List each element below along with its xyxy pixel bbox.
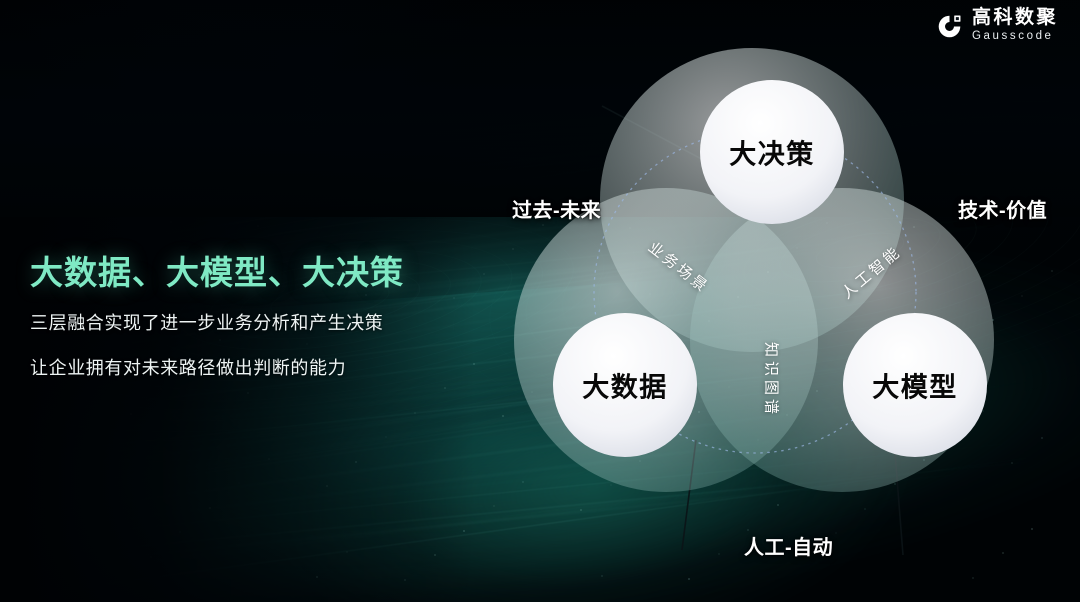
brand-logo-text: 高科数聚 Gausscode [972,8,1058,44]
subtitle-line-2: 让企业拥有对未来路径做出判断的能力 [30,355,470,382]
brand-logo: 高科数聚 Gausscode [936,8,1058,44]
page-title: 大数据、大模型、大决策 [30,252,470,293]
brand-name-cn: 高科数聚 [972,8,1058,28]
outer-label-manual-automatic: 人工-自动 [744,531,833,560]
venn-node-label-bigdata: 大数据 [582,366,668,405]
outer-label-past-future: 过去-未来 [512,194,601,223]
venn-diagram-svg [490,10,1050,570]
slide-text-block: 大数据、大模型、大决策 三层融合实现了进一步业务分析和产生决策 让企业拥有对未来… [30,252,470,382]
venn-node-label-decision: 大决策 [729,133,815,172]
venn-diagram: 大决策 大数据 大模型 业务场景 人工智能 知识图谱 [490,10,1050,570]
venn-node-label-bigmodel: 大模型 [872,366,958,405]
outer-label-technology-value: 技术-价值 [958,194,1047,223]
venn-overlap-label-knowledge-graph: 知识图谱 [762,342,783,418]
brand-name-en: Gausscode [972,29,1054,45]
subtitle-line-1: 三层融合实现了进一步业务分析和产生决策 [30,310,470,337]
gausscode-ring-mark-icon [936,13,963,40]
